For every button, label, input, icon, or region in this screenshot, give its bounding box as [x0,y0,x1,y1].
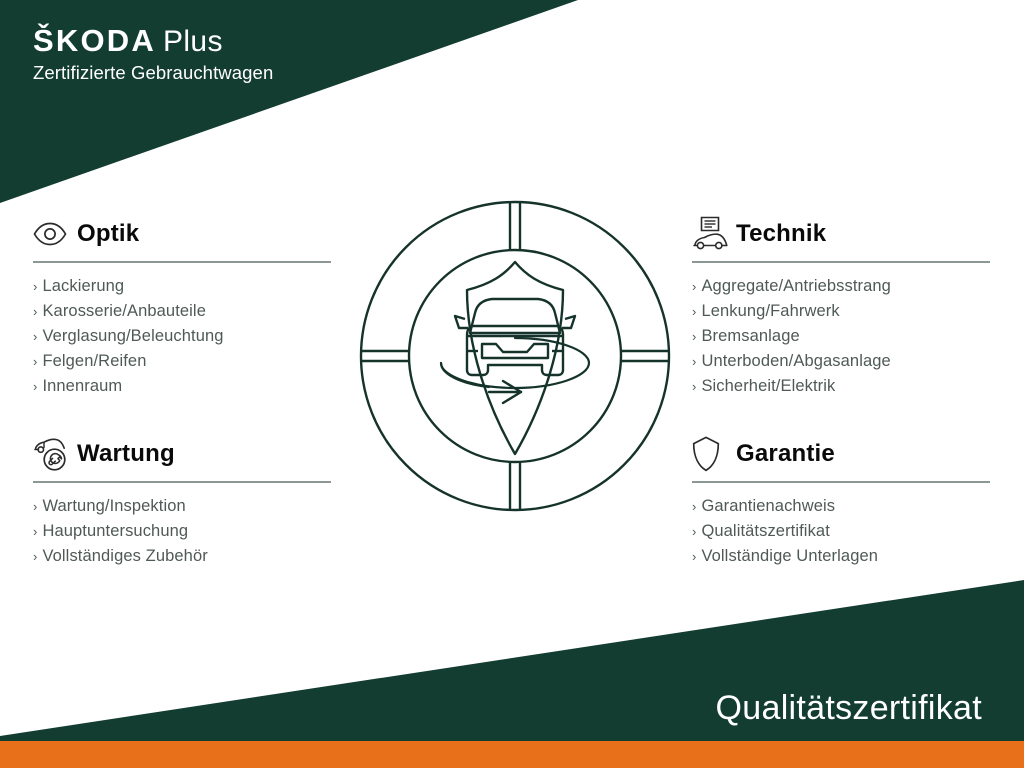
list-item-label: Sicherheit/Elektrik [701,374,835,399]
inner-ring-segment [409,356,515,462]
section-technik-title: Technik [736,220,826,248]
section-technik: Technik ›Aggregate/Antriebsstrang ›Lenku… [692,214,992,399]
section-garantie: Garantie ›Garantienachweis ›Qualitätszer… [692,434,992,569]
chevron-right-icon: › [692,374,696,399]
list-item: ›Hauptuntersuchung [33,519,333,544]
list-item-label: Lenkung/Fahrwerk [701,299,839,324]
section-garantie-title: Garantie [736,440,835,468]
chevron-right-icon: › [33,324,37,349]
list-item: ›Felgen/Reifen [33,349,333,374]
car-front-icon [455,299,575,375]
list-item-label: Lackierung [42,274,124,299]
chevron-right-icon: › [692,519,696,544]
certificate-page: ŠKODAPlus Zertifizierte Gebrauchtwagen O… [0,0,1024,768]
list-item: ›Qualitätszertifikat [692,519,992,544]
list-item-label: Karosserie/Anbauteile [42,299,206,324]
list-item: ›Aggregate/Antriebsstrang [692,274,992,299]
eye-icon [33,214,77,254]
list-item: ›Lackierung [33,274,333,299]
outer-ring-segment [515,356,669,510]
chevron-right-icon: › [33,349,37,374]
section-optik-list: ›Lackierung ›Karosserie/Anbauteile ›Verg… [33,274,333,399]
list-item: ›Bremsanlage [692,324,992,349]
chevron-right-icon: › [33,544,37,569]
inner-ring-segment [409,250,515,356]
section-optik-rule [33,261,331,263]
chevron-right-icon: › [692,544,696,569]
chevron-right-icon: › [692,274,696,299]
list-item-label: Wartung/Inspektion [42,494,185,519]
list-item: ›Garantienachweis [692,494,992,519]
brand-tagline: Zertifizierte Gebrauchtwagen [33,61,273,85]
chevron-right-icon: › [692,324,696,349]
list-item-label: Innenraum [42,374,122,399]
section-wartung-list: ›Wartung/Inspektion ›Hauptuntersuchung ›… [33,494,333,569]
brand-logo-primary: ŠKODAPlus [33,24,273,59]
chevron-right-icon: › [692,299,696,324]
inner-ring-segment [515,356,621,462]
list-item-label: Unterboden/Abgasanlage [701,349,890,374]
section-technik-list: ›Aggregate/Antriebsstrang ›Lenkung/Fahrw… [692,274,992,399]
list-item: ›Sicherheit/Elektrik [692,374,992,399]
list-item: ›Karosserie/Anbauteile [33,299,333,324]
list-item-label: Verglasung/Beleuchtung [42,324,223,349]
chevron-right-icon: › [692,349,696,374]
outer-ring-segment [361,356,515,510]
list-item-label: Garantienachweis [701,494,835,519]
chevron-right-icon: › [33,274,37,299]
list-item: ›Innenraum [33,374,333,399]
document-car-icon [692,214,736,254]
shield-icon [692,434,736,474]
chevron-right-icon: › [33,494,37,519]
list-item: ›Wartung/Inspektion [33,494,333,519]
list-item-label: Vollständiges Zubehör [42,544,207,569]
car-wrench-icon [33,434,77,474]
section-wartung-title: Wartung [77,440,175,468]
section-garantie-list: ›Garantienachweis ›Qualitätszertifikat ›… [692,494,992,569]
list-item: ›Unterboden/Abgasanlage [692,349,992,374]
orange-footer-bar [0,741,1024,768]
section-wartung-header: Wartung [33,434,333,474]
list-item-label: Felgen/Reifen [42,349,146,374]
section-wartung: Wartung ›Wartung/Inspektion ›Hauptunters… [33,434,333,569]
brand-logo-suffix: Plus [163,25,223,58]
section-optik-header: Optik [33,214,333,254]
list-item-label: Qualitätszertifikat [701,519,829,544]
brand-logo-mark: ŠKODA [33,23,156,58]
section-garantie-rule [692,481,990,483]
section-optik: Optik ›Lackierung ›Karosserie/Anbauteile… [33,214,333,399]
section-optik-title: Optik [77,220,139,248]
list-item: ›Vollständiges Zubehör [33,544,333,569]
section-technik-rule [692,261,990,263]
footer-headline: Qualitätszertifikat [716,688,982,728]
section-wartung-rule [33,481,331,483]
brand-logo: ŠKODAPlus Zertifizierte Gebrauchtwagen [33,24,273,85]
list-item-label: Hauptuntersuchung [42,519,188,544]
list-item: ›Vollständige Unterlagen [692,544,992,569]
section-technik-header: Technik [692,214,992,254]
inner-ring-segment [515,250,621,356]
section-garantie-header: Garantie [692,434,992,474]
chevron-right-icon: › [33,374,37,399]
list-item-label: Aggregate/Antriebsstrang [701,274,891,299]
list-item-label: Bremsanlage [701,324,799,349]
chevron-right-icon: › [33,519,37,544]
list-item: ›Verglasung/Beleuchtung [33,324,333,349]
chevron-right-icon: › [33,299,37,324]
list-item-label: Vollständige Unterlagen [701,544,878,569]
chevron-right-icon: › [692,494,696,519]
certified-vehicle-emblem [355,196,675,516]
list-item: ›Lenkung/Fahrwerk [692,299,992,324]
